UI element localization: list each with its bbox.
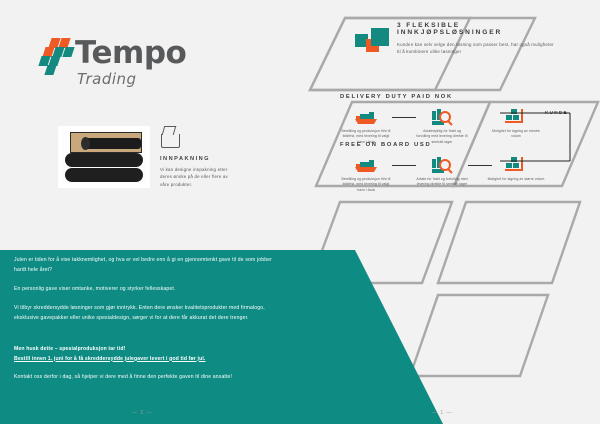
letter-deadline-note: Men husk dette – spesialproduksjon tar t… [14,345,282,355]
letter-paragraph: Vi tilbyr skreddersydde løsninger som gj… [14,304,282,324]
letter-paragraph: Julen er tiden for å vise takknemlighet,… [14,256,282,276]
customer-label: KUNDE [545,110,568,115]
letter-deadline-cta: Bestill innen 1. juni for å få skredders… [14,355,282,365]
letter-paragraph: Kontakt oss derfor i dag, så hjelper vi … [14,373,282,383]
page-marker-right: — 1 — [432,410,453,416]
letter-copy: Julen er tiden for å vise takknemlighet,… [14,256,282,392]
brochure-page: Tempo Trading INNPAKNING Vi kan designe … [0,0,600,424]
page-marker-left: — 2 — [132,410,153,416]
letter-paragraph: En personlig gave viser omtanke, motiver… [14,285,282,295]
